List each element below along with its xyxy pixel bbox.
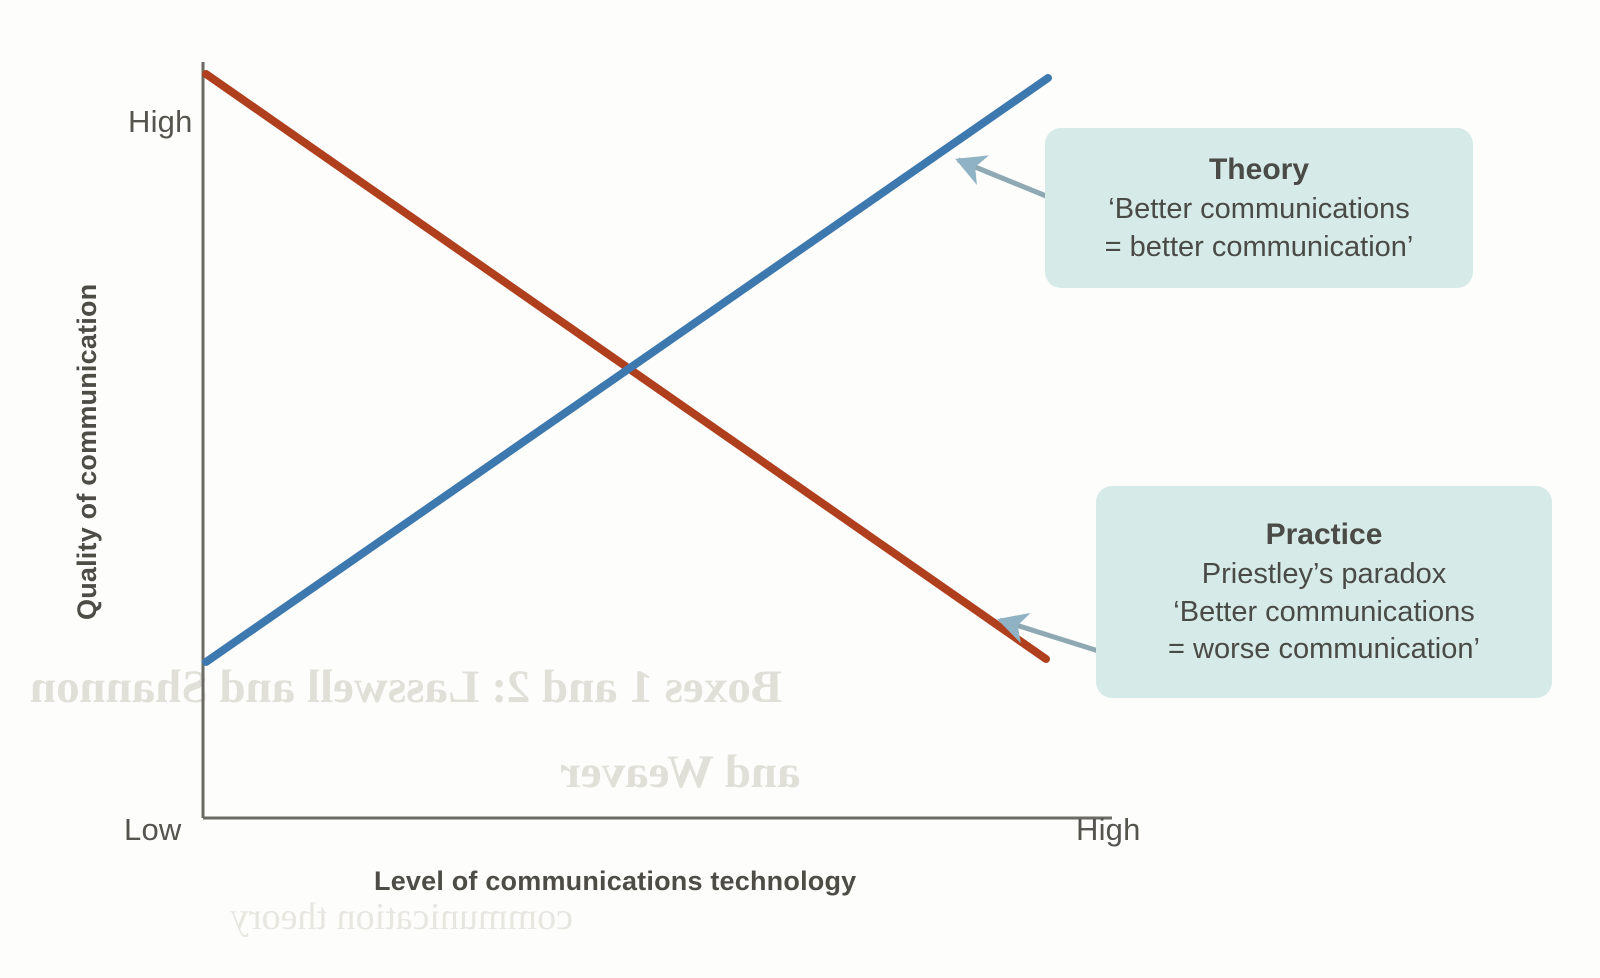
- y-axis-title: Quality of communication: [72, 284, 103, 620]
- callout-practice-line-3: = worse communication’: [1168, 631, 1480, 669]
- callout-theory: Theory ‘Better communications = better c…: [1045, 128, 1473, 288]
- callout-practice-line-2: ‘Better communications: [1173, 594, 1474, 632]
- x-axis-tick-high: High: [1076, 812, 1141, 848]
- callout-practice-line-1: Priestley’s paradox: [1202, 556, 1446, 594]
- callout-practice-title: Practice: [1266, 515, 1383, 554]
- callout-practice: Practice Priestley’s paradox ‘Better com…: [1096, 486, 1552, 698]
- callout-theory-title: Theory: [1209, 150, 1309, 189]
- x-axis-title: Level of communications technology: [374, 866, 856, 897]
- theory-annotation-arrow: [958, 160, 1046, 196]
- x-axis-tick-low: Low: [124, 812, 181, 848]
- callout-theory-line-1: ‘Better communications: [1108, 191, 1409, 229]
- figure-page: palomek under Boxes 1 and 2: Lasswell an…: [0, 0, 1600, 978]
- y-axis-tick-high: High: [128, 104, 193, 140]
- callout-theory-line-2: = better communication’: [1105, 229, 1414, 267]
